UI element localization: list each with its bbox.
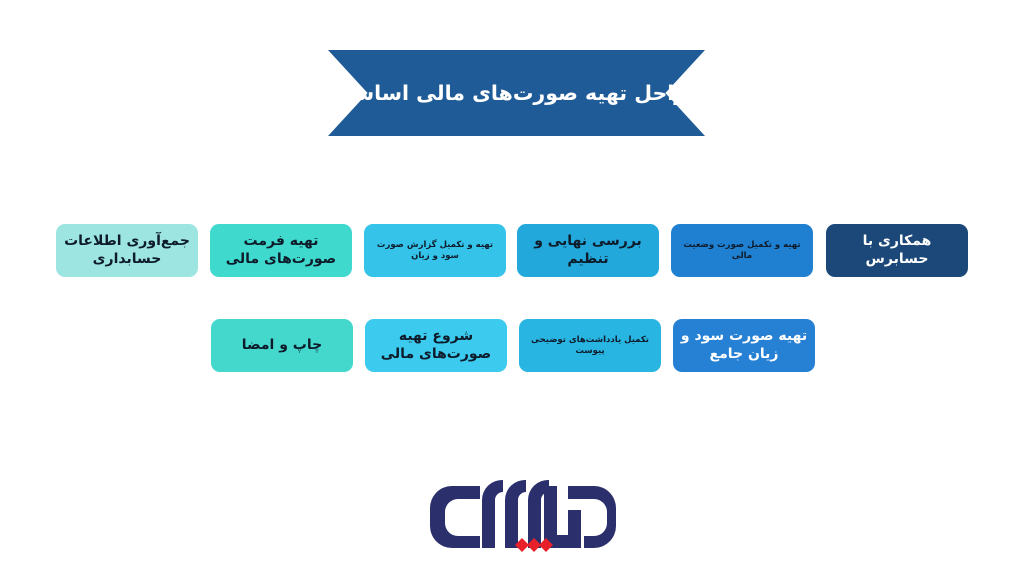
- step-label: تهیه فرمت صورت‌های مالی: [217, 233, 345, 268]
- step-box[interactable]: تهیه و تکمیل گزارش صورت سود و زیان: [364, 224, 506, 277]
- step-box[interactable]: همکاری با حسابرس: [826, 224, 968, 277]
- title-banner: مراحل تهیه صورت‌های مالی اساسی: [328, 50, 705, 136]
- step-label: بررسی نهایی و تنظیم: [524, 233, 652, 268]
- step-label: تهیه صورت سود و زیان جامع: [680, 328, 808, 363]
- step-box[interactable]: تهیه و تکمیل صورت وضعیت مالی: [671, 224, 813, 277]
- page-title: مراحل تهیه صورت‌های مالی اساسی: [328, 50, 705, 136]
- company-logo: [418, 476, 618, 556]
- step-box[interactable]: تکمیل یادداشت‌های توضیحی پیوست: [519, 319, 661, 372]
- step-label: جمع‌آوری اطلاعات حسابداری: [63, 233, 191, 268]
- logo-accent-diamonds: [515, 538, 553, 552]
- step-box[interactable]: بررسی نهایی و تنظیم: [517, 224, 659, 277]
- step-box[interactable]: تهیه فرمت صورت‌های مالی: [210, 224, 352, 277]
- step-box[interactable]: جمع‌آوری اطلاعات حسابداری: [56, 224, 198, 277]
- step-label: تهیه و تکمیل گزارش صورت سود و زیان: [371, 240, 499, 261]
- step-label: تهیه و تکمیل صورت وضعیت مالی: [678, 240, 806, 261]
- logo-mark: [430, 480, 616, 548]
- step-box[interactable]: شروع تهیه صورت‌های مالی: [365, 319, 507, 372]
- step-label: تکمیل یادداشت‌های توضیحی پیوست: [526, 335, 654, 356]
- step-box[interactable]: تهیه صورت سود و زیان جامع: [673, 319, 815, 372]
- step-label: شروع تهیه صورت‌های مالی: [372, 328, 500, 363]
- step-label: همکاری با حسابرس: [833, 233, 961, 268]
- step-box[interactable]: چاپ و امضا: [211, 319, 353, 372]
- step-label: چاپ و امضا: [218, 337, 346, 355]
